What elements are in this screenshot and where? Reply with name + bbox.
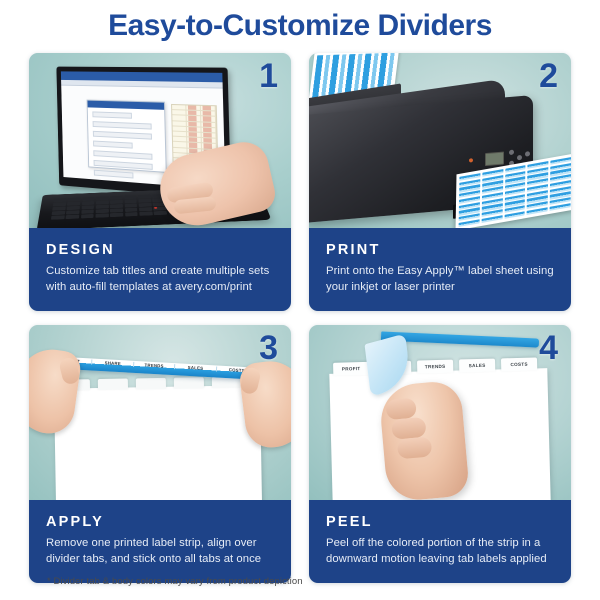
steps-grid: 1 DESIGN Customize tab titles and create… — [29, 53, 571, 583]
sheet-cell — [172, 110, 186, 115]
sheet-cell — [173, 142, 187, 147]
step-card-apply[interactable]: PROFIT SHARE TRENDS SALES COSTS 3 APPLY … — [29, 325, 291, 583]
label-column — [504, 165, 526, 219]
sheet-cell — [187, 116, 202, 121]
sheet-cell — [187, 143, 202, 148]
key — [67, 206, 80, 210]
dialog-field — [93, 131, 153, 140]
dialog-field — [94, 179, 154, 189]
printer-button[interactable] — [525, 151, 530, 156]
step-number-1: 1 — [259, 57, 278, 96]
hand-peeling — [378, 380, 470, 500]
step-title-print: PRINT — [326, 242, 554, 258]
sheet-cell — [187, 127, 202, 132]
step-photo-apply: PROFIT SHARE TRENDS SALES COSTS 3 — [29, 325, 291, 500]
sheet-cell — [172, 116, 186, 121]
laptop-illustration — [41, 67, 266, 227]
sheet-cell — [186, 105, 201, 110]
template-dialog — [87, 100, 167, 173]
divider-tab-costs: COSTS — [501, 357, 537, 371]
sheet-cell — [172, 121, 186, 126]
key — [82, 201, 95, 205]
footnote-disclaimer: * Divider tab & body colors may vary fro… — [47, 576, 303, 587]
sheet-cell — [202, 133, 217, 138]
printer-illustration — [309, 53, 571, 228]
key — [82, 197, 95, 201]
step-body-design: Customize tab titles and create multiple… — [46, 263, 274, 295]
printer-lcd-screen — [485, 151, 504, 166]
key — [67, 202, 80, 206]
divider-tab-trends: TRENDS — [417, 360, 453, 374]
trackpoint-nub — [154, 207, 157, 209]
divider-tab-profit: PROFIT — [333, 362, 369, 376]
key — [81, 205, 94, 209]
sheet-cell — [201, 117, 216, 122]
printer-button[interactable] — [509, 150, 514, 155]
dialog-field — [93, 150, 153, 160]
step-title-peel: PEEL — [326, 514, 554, 530]
dialog-header — [88, 101, 165, 110]
step-body-print: Print onto the Easy Apply™ label sheet u… — [326, 263, 554, 295]
step-caption-peel: PEEL Peel off the colored portion of the… — [309, 500, 571, 583]
strip-label-trends: TRENDS — [134, 362, 176, 369]
power-led-icon — [469, 158, 473, 162]
step-photo-peel: PROFIT SHARE TRENDS SALES COSTS 4 — [309, 325, 571, 500]
step-caption-design: DESIGN Customize tab titles and create m… — [29, 228, 291, 311]
key — [81, 210, 94, 214]
divider-tab — [98, 379, 128, 391]
step-body-peel: Peel off the colored portion of the stri… — [326, 535, 554, 567]
key — [110, 196, 123, 200]
dialog-field — [93, 121, 153, 129]
key — [81, 214, 94, 218]
step-body-apply: Remove one printed label strip, align ov… — [46, 535, 274, 567]
strip-label-share: SHARE — [93, 360, 135, 367]
step-number-3: 3 — [259, 329, 278, 368]
divider-stack — [54, 385, 262, 500]
key — [110, 213, 123, 217]
key — [125, 208, 138, 212]
sheet-cell — [173, 126, 187, 131]
key — [110, 204, 123, 208]
key — [110, 209, 123, 213]
label-column — [481, 169, 503, 223]
dialog-field — [94, 160, 154, 170]
label-column — [550, 157, 571, 211]
sheet-cell — [187, 132, 202, 137]
divider-tab-sales: SALES — [459, 359, 495, 373]
key — [53, 198, 66, 202]
key — [96, 205, 109, 209]
key — [139, 203, 152, 207]
key — [51, 216, 65, 220]
key — [96, 201, 109, 205]
key — [52, 207, 65, 211]
dialog-field — [92, 111, 131, 118]
step-card-peel[interactable]: PROFIT SHARE TRENDS SALES COSTS 4 PEEL P… — [309, 325, 571, 583]
dialog-field — [93, 141, 132, 149]
knuckle — [385, 398, 417, 421]
step-photo-printer: 2 — [309, 53, 571, 228]
step-caption-print: PRINT Print onto the Easy Apply™ label s… — [309, 228, 571, 311]
key — [68, 197, 81, 201]
label-column — [527, 161, 549, 215]
finger — [173, 196, 216, 214]
sheet-cell — [187, 137, 202, 142]
thumb — [239, 366, 261, 395]
knuckle — [397, 436, 433, 459]
key — [124, 204, 137, 208]
step-caption-apply: APPLY Remove one printed label strip, al… — [29, 500, 291, 583]
key — [95, 214, 108, 218]
printer-button[interactable] — [517, 155, 522, 160]
page-title: Easy-to-Customize Dividers — [0, 0, 600, 42]
key — [124, 199, 137, 203]
step-title-design: DESIGN — [46, 242, 274, 258]
key — [52, 211, 65, 215]
thumb — [58, 356, 81, 385]
key — [66, 215, 79, 219]
key — [66, 210, 79, 214]
key — [96, 209, 109, 213]
sheet-cell — [173, 137, 187, 142]
divider-tab — [136, 378, 166, 390]
step-card-design[interactable]: 1 DESIGN Customize tab titles and create… — [29, 53, 291, 311]
sheet-cell — [201, 106, 216, 111]
sheet-cell — [201, 122, 216, 127]
sheet-cell — [202, 138, 217, 143]
sheet-cell — [201, 127, 216, 132]
step-number-2: 2 — [539, 57, 558, 96]
dialog-field — [94, 170, 133, 179]
sheet-cell — [186, 111, 201, 116]
sheet-cell — [173, 147, 187, 152]
step-photo-laptop: 1 — [29, 53, 291, 228]
sheet-cell — [187, 121, 202, 126]
key — [125, 212, 138, 216]
label-column — [459, 173, 481, 227]
key — [139, 207, 152, 211]
key — [53, 202, 66, 206]
divider-tab — [174, 377, 204, 389]
key — [110, 200, 123, 204]
strip-label-sales: SALES — [175, 364, 217, 371]
key — [124, 195, 137, 199]
sheet-cell — [173, 131, 187, 136]
step-title-apply: APPLY — [46, 514, 274, 530]
key — [96, 196, 109, 200]
sheet-cell — [201, 111, 216, 116]
sheet-cell — [172, 105, 186, 110]
key — [138, 195, 151, 199]
step-number-4: 4 — [539, 329, 558, 368]
key — [138, 199, 151, 203]
key — [154, 211, 167, 215]
step-card-print[interactable]: 2 PRINT Print onto the Easy Apply™ label… — [309, 53, 571, 311]
key — [139, 212, 152, 216]
